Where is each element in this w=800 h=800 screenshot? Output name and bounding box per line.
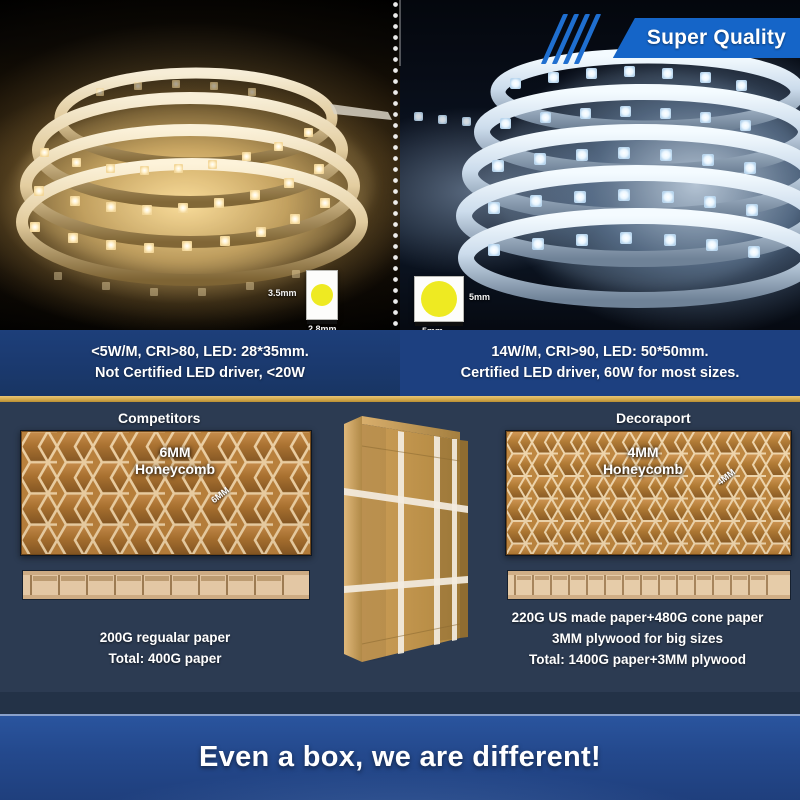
decoraport-caption-line-3: Total: 1400G paper+3MM plywood [480,649,795,670]
decoraport-honeycomb-sample [505,430,792,556]
decoraport-caption: 220G US made paper+480G cone paper 3MM p… [480,607,795,670]
competitor-honeycomb-sample [20,430,312,556]
spec-comparison-row: <5W/M, CRI>80, LED: 28*35mm. Not Certifi… [0,330,800,396]
cool-chip-height-label: 5mm [469,292,490,302]
competitor-caption: 200G regualar paper Total: 400G paper [20,627,310,669]
competitors-title: Competitors [118,410,200,426]
competitor-caption-line-2: Total: 400G paper [20,648,310,669]
carton-box-illustration [338,410,503,675]
competitor-corrugate-sample [22,570,310,600]
spec-vertical-divider [399,0,401,66]
footer-headline: Even a box, we are different! [199,741,601,774]
cool-led-chip-inset: 5mm 5mm [414,276,464,322]
photo-cool-led-strip: Super Quality 5mm 5mm [400,0,800,330]
footer-banner: Even a box, we are different! [0,714,800,800]
warm-chip-height-label: 3.5mm [268,288,297,298]
cool-chip-diagram [414,276,464,322]
decoraport-caption-line-2: 3MM plywood for big sizes [480,628,795,649]
warm-strip-coil-illustration [0,0,400,330]
competitor-caption-line-1: 200G regualar paper [20,627,310,648]
decoraport-corrugate-sample [507,570,791,600]
led-phosphor-dot-icon [421,281,457,317]
photo-warm-led-strip: 3.5mm 2.8mm [0,0,400,330]
warm-led-chip-inset: 3.5mm 2.8mm [306,270,338,320]
decoraport-title: Decoraport [616,410,691,426]
spec-panel-decoraport: 14W/M, CRI>90, LED: 50*50mm. Certified L… [400,330,800,396]
spec-panel-competitor: <5W/M, CRI>80, LED: 28*35mm. Not Certifi… [0,330,400,396]
super-quality-banner: Super Quality [613,18,800,58]
product-infographic: 3.5mm 2.8mm [0,0,800,800]
super-quality-label: Super Quality [647,26,786,50]
spec-left-line-2: Not Certified LED driver, <20W [95,363,305,384]
decoraport-caption-line-1: 220G US made paper+480G cone paper [480,607,795,628]
warm-chip-diagram [306,270,338,320]
spec-right-line-1: 14W/M, CRI>90, LED: 50*50mm. [491,342,708,363]
spec-left-line-1: <5W/M, CRI>80, LED: 28*35mm. [91,342,309,363]
led-phosphor-dot-icon [311,284,333,306]
spec-right-line-2: Certified LED driver, 60W for most sizes… [461,363,740,384]
packaging-comparison-section: Competitors Decoraport [0,402,800,692]
